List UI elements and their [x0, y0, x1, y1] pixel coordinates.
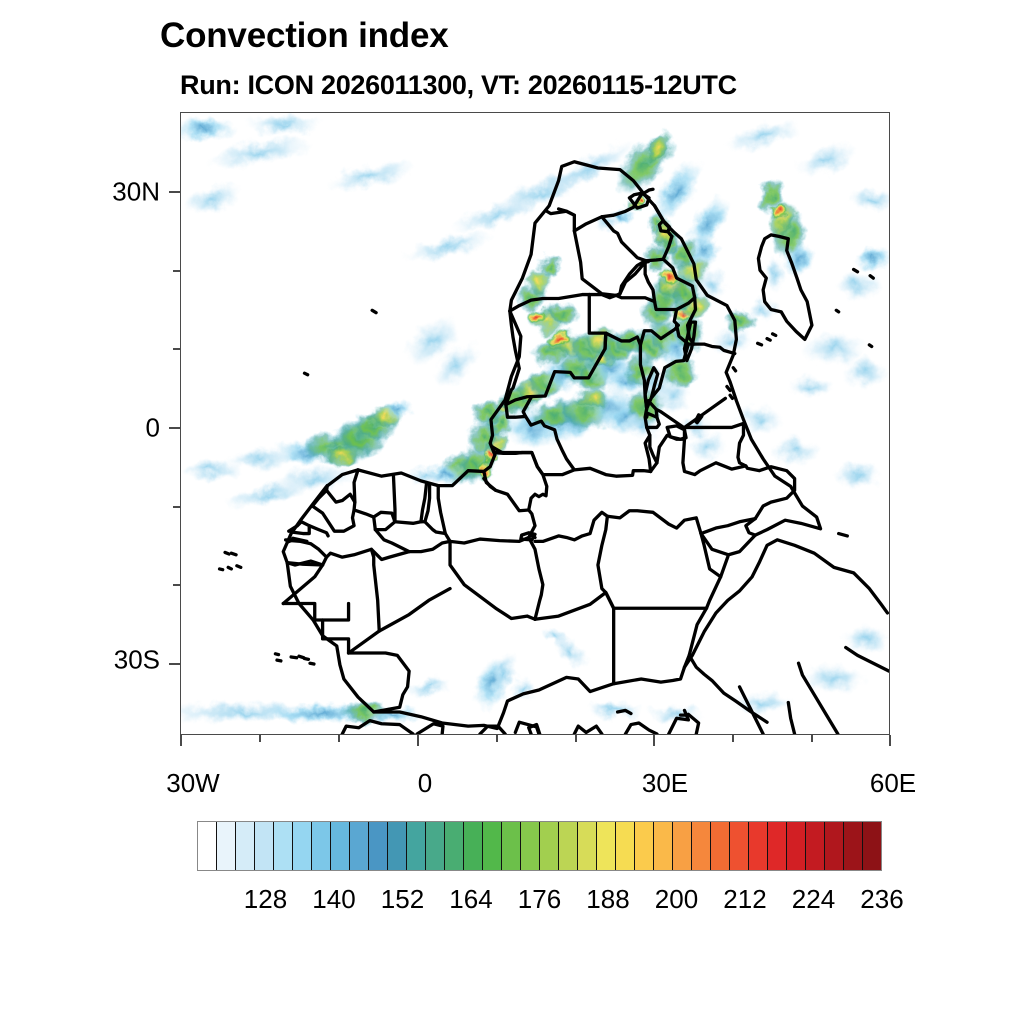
- map-plot-area: [180, 112, 890, 735]
- colorbar-tick-label: 188: [586, 884, 629, 915]
- colorbar-cell: [635, 822, 654, 870]
- colorbar-cell: [540, 822, 559, 870]
- colorbar-cell: [236, 822, 255, 870]
- colorbar-cell: [255, 822, 274, 870]
- colorbar-tick-label: 140: [312, 884, 355, 915]
- colorbar-tick-label: 176: [518, 884, 561, 915]
- colorbar-cell: [369, 822, 388, 870]
- map-canvas: [181, 113, 889, 734]
- colorbar-tick-label: 236: [860, 884, 903, 915]
- convection-index-figure: Convection index Run: ICON 2026011300, V…: [0, 0, 1024, 1024]
- colorbar-cell: [388, 822, 407, 870]
- colorbar-cell: [445, 822, 464, 870]
- colorbar-cell: [578, 822, 597, 870]
- x-axis-label-30w: 30W: [166, 768, 219, 799]
- colorbar-cell: [521, 822, 540, 870]
- colorbar-tick-labels: 128140152164176188200212224236: [0, 884, 1024, 924]
- colorbar-cell: [787, 822, 806, 870]
- x-axis-label-0: 0: [418, 768, 432, 799]
- colorbar-tick-label: 212: [723, 884, 766, 915]
- run-validtime-subtitle: Run: ICON 2026011300, VT: 20260115-12UTC: [180, 70, 1000, 101]
- colorbar-cell: [426, 822, 445, 870]
- page-title: Convection index: [160, 16, 960, 56]
- colorbar-cell: [274, 822, 293, 870]
- colorbar-cell: [350, 822, 369, 870]
- colorbar-cell: [654, 822, 673, 870]
- colorbar-cell: [464, 822, 483, 870]
- colorbar-tick-label: 164: [449, 884, 492, 915]
- colorbar-cell: [502, 822, 521, 870]
- colorbar-tick-label: 224: [792, 884, 835, 915]
- colorbar-cell: [730, 822, 749, 870]
- colorbar-cell: [293, 822, 312, 870]
- colorbar-cell: [844, 822, 863, 870]
- colorbar-cell: [483, 822, 502, 870]
- y-axis-label-30n: 30N: [100, 177, 160, 208]
- colorbar-cell: [768, 822, 787, 870]
- colorbar-cell: [692, 822, 711, 870]
- colorbar-cell: [616, 822, 635, 870]
- colorbar-cell: [806, 822, 825, 870]
- colorbar-cell: [312, 822, 331, 870]
- y-axis-label-30s: 30S: [100, 645, 160, 676]
- colorbar-cell: [673, 822, 692, 870]
- colorbar-tick-label: 152: [381, 884, 424, 915]
- colorbar-cell: [863, 822, 881, 870]
- colorbar-cell: [597, 822, 616, 870]
- colorbar-cell: [217, 822, 236, 870]
- colorbar-tick-label: 200: [655, 884, 698, 915]
- y-axis-label-0: 0: [100, 413, 160, 444]
- colorbar-cell: [198, 822, 217, 870]
- x-axis-label-60e: 60E: [870, 768, 916, 799]
- x-axis-label-30e: 30E: [642, 768, 688, 799]
- colorbar-cell: [825, 822, 844, 870]
- convection-field: [181, 114, 889, 725]
- colorbar-cell: [331, 822, 350, 870]
- colorbar-tick-label: 128: [244, 884, 287, 915]
- colorbar-cell: [749, 822, 768, 870]
- colorbar-cell: [711, 822, 730, 870]
- colorbar-cell: [559, 822, 578, 870]
- colorbar-cell: [407, 822, 426, 870]
- colorbar: [197, 821, 882, 871]
